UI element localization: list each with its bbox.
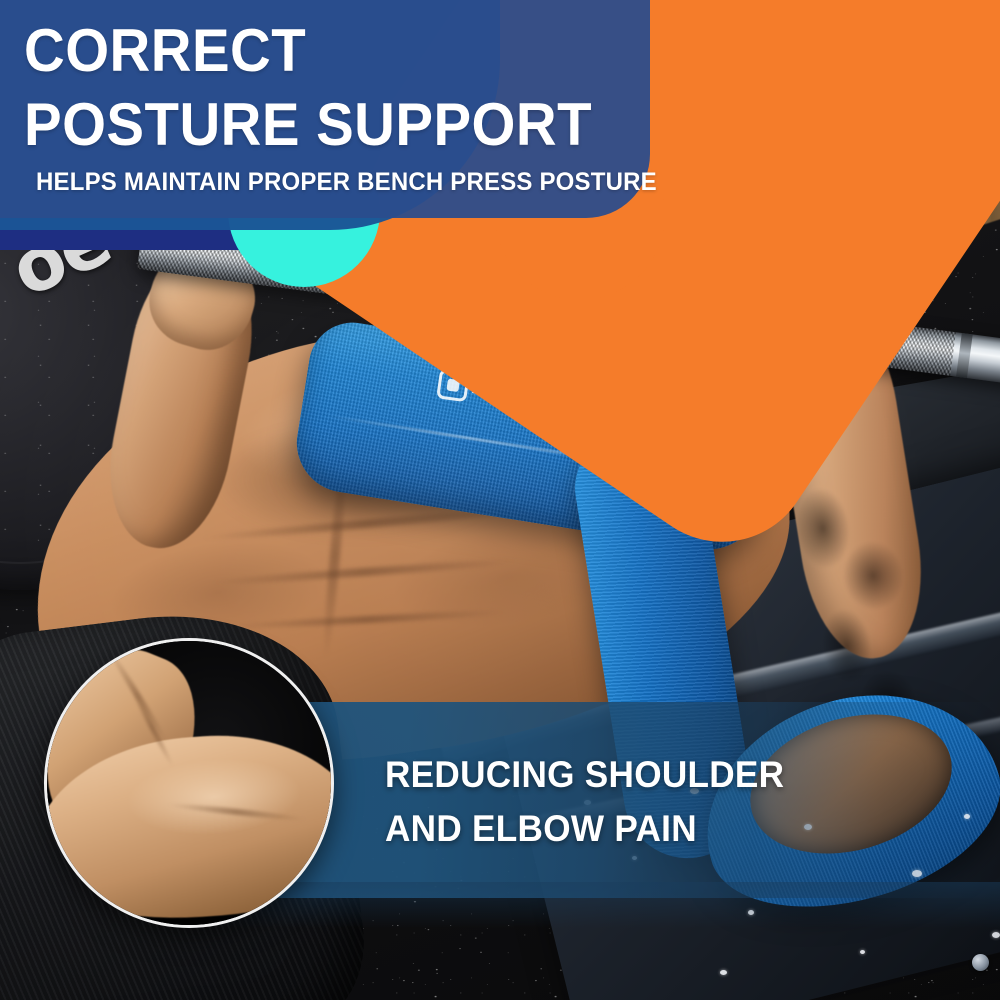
bottom-caption-text-group: REDUCING SHOULDER AND ELBOW PAIN	[385, 748, 905, 856]
header-text-group: CORRECT POSTURE SUPPORT HELPS MAINTAIN P…	[0, 0, 700, 230]
bottom-caption-line-1: REDUCING SHOULDER	[385, 748, 879, 802]
product-infographic-image: oe BP	[0, 0, 1000, 1000]
subheadline: HELPS MAINTAIN PROPER BENCH PRESS POSTUR…	[36, 168, 673, 197]
barbell-ring-marker	[956, 333, 973, 378]
headline-line-1: CORRECT	[24, 14, 659, 88]
bottom-caption-line-2: AND ELBOW PAIN	[385, 802, 879, 856]
headline-line-2: POSTURE SUPPORT	[24, 88, 659, 162]
bicep-closeup-inset	[44, 638, 334, 928]
